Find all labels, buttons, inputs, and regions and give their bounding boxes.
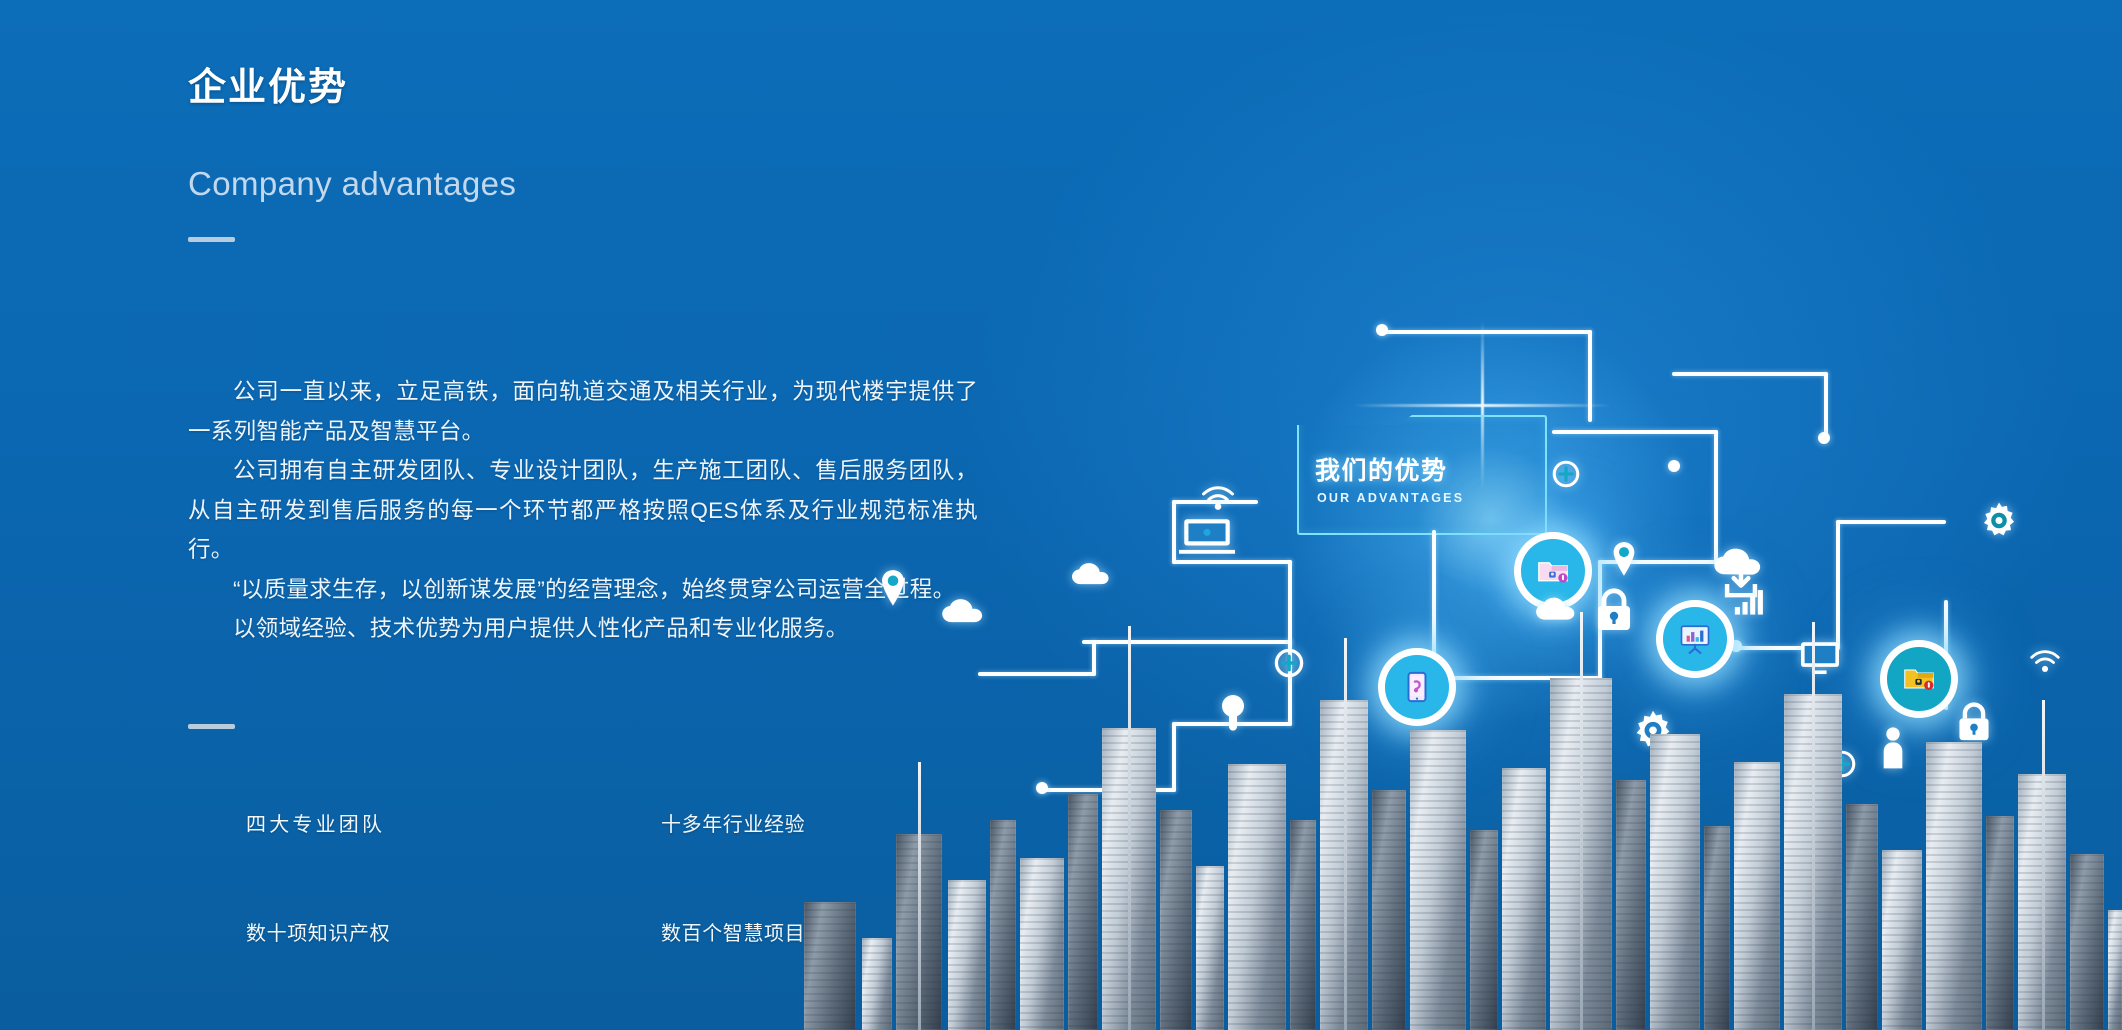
- map-pin-icon: [878, 568, 908, 613]
- building: [2070, 854, 2104, 1030]
- building: [1020, 858, 1064, 1030]
- building: [1704, 826, 1730, 1030]
- plus-circle-icon: [1552, 460, 1580, 493]
- antenna: [918, 762, 921, 1030]
- antenna: [1580, 612, 1583, 1030]
- building: [804, 902, 856, 1030]
- building: [862, 938, 892, 1030]
- antenna: [1812, 622, 1815, 1030]
- hero-tag: 我们的优势 OUR ADVANTAGES: [1297, 415, 1547, 535]
- wire: [1836, 520, 1946, 524]
- building: [1502, 768, 1546, 1030]
- stat-item-projects: 数百个智慧项目: [661, 917, 805, 946]
- hero-label-cn: 我们的优势: [1315, 451, 1448, 487]
- building: [1228, 764, 1286, 1030]
- building: [990, 820, 1016, 1030]
- building: [1616, 780, 1646, 1030]
- building: [1372, 790, 1406, 1030]
- wire: [1672, 372, 1828, 376]
- antenna: [2042, 700, 2045, 1030]
- stat-item-teams: 四大专业团队: [246, 808, 661, 837]
- wifi-icon: [1200, 486, 1236, 517]
- building: [1160, 810, 1192, 1030]
- building: [1290, 820, 1316, 1030]
- building: [1882, 850, 1922, 1030]
- laptop-icon: [1176, 514, 1238, 561]
- wire: [1552, 430, 1718, 434]
- antenna: [1128, 626, 1131, 1030]
- building: [1196, 866, 1224, 1030]
- stats-grid: 四大专业团队 十多年行业经验 数十项知识产权 数百个智慧项目: [246, 808, 805, 946]
- building: [1068, 794, 1098, 1030]
- advantages-section: 企业优势 Company advantages 公司一直以来，立足高铁，面向轨道…: [0, 0, 2122, 1030]
- stat-item-experience: 十多年行业经验: [661, 808, 805, 837]
- building: [1734, 762, 1780, 1030]
- hero-label-en: OUR ADVANTAGES: [1317, 491, 1464, 505]
- wire: [1588, 330, 1592, 422]
- wire: [1714, 430, 1718, 564]
- building: [2108, 910, 2122, 1030]
- gear-icon: [1976, 500, 2022, 551]
- wire: [1824, 372, 1828, 438]
- wire-node-dot: [1818, 432, 1830, 444]
- folder-lock-icon: [1535, 553, 1571, 589]
- stat-item-patents: 数十项知识产权: [246, 917, 661, 946]
- building: [1926, 742, 1982, 1030]
- antenna: [1344, 638, 1347, 1030]
- stats-divider: [188, 724, 235, 729]
- building: [1650, 734, 1700, 1030]
- building: [948, 880, 986, 1030]
- building: [1846, 804, 1878, 1030]
- wire-node-dot: [1376, 324, 1388, 336]
- building: [1986, 816, 2014, 1030]
- building: [1470, 830, 1498, 1030]
- wire-node-dot: [1668, 460, 1680, 472]
- title-divider: [188, 237, 235, 242]
- map-pin-icon: [1610, 540, 1638, 583]
- wire: [1382, 330, 1592, 334]
- cloud-icon: [1070, 562, 1114, 591]
- city-skyline: [792, 610, 2122, 1030]
- building: [1410, 730, 1466, 1030]
- smart-city-illustration: 我们的优势 OUR ADVANTAGES: [792, 0, 2122, 1030]
